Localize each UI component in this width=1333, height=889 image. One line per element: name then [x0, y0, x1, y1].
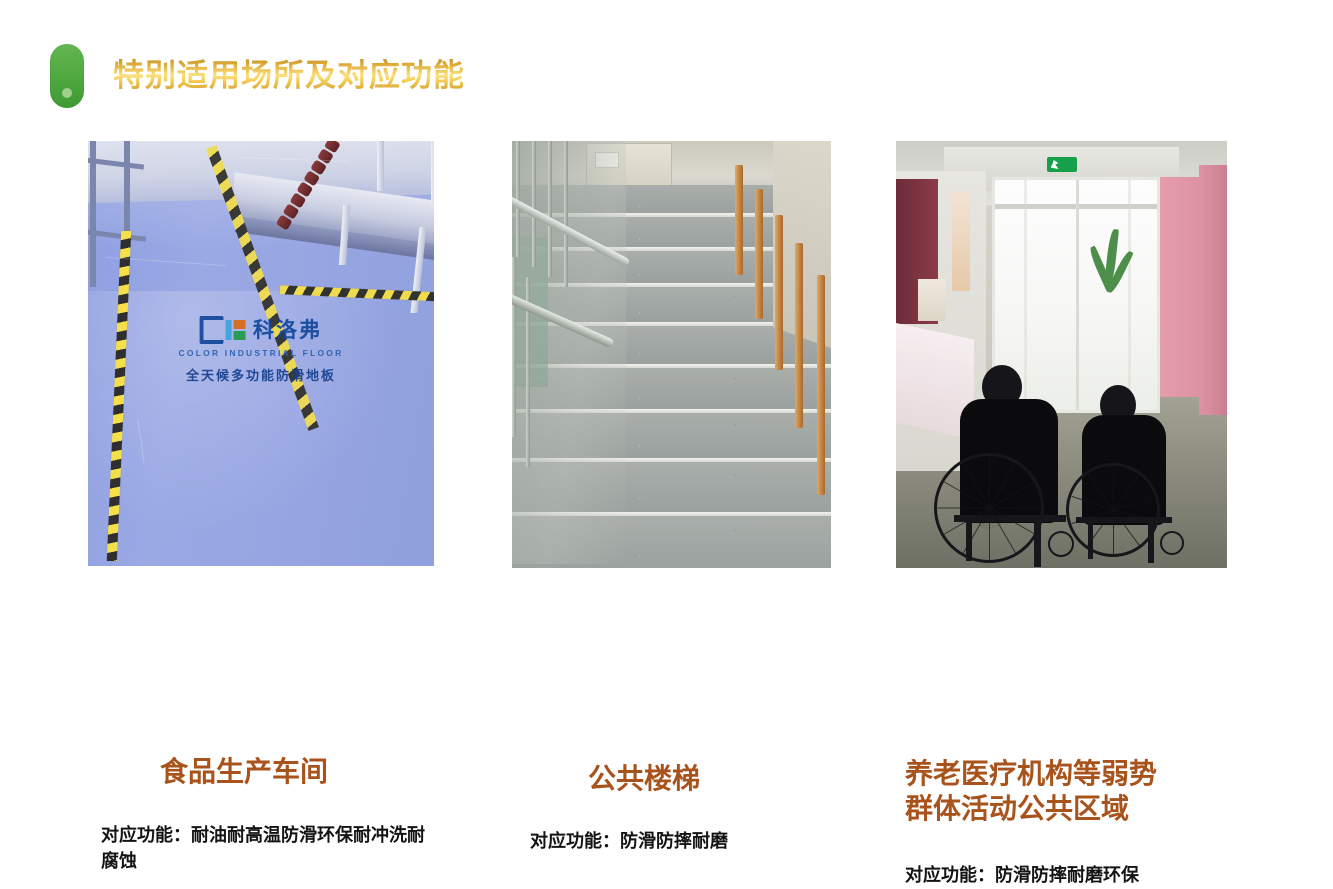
- potted-plant: [1097, 229, 1131, 321]
- brand-watermark: 科洛弗 COLOR INDUSTRIAL FLOOR 全天候多功能防滑地板: [179, 316, 344, 384]
- caption-body-elderly-medical-public-area: 对应功能：防滑防摔耐磨环保: [905, 863, 1235, 889]
- caption-heading-elderly-medical-public-area: 养老医疗机构等弱势 群体活动公共区域: [905, 756, 1235, 827]
- caption-body-public-stairway: 对应功能：防滑防摔耐磨: [530, 829, 830, 855]
- left-railing: [88, 141, 148, 287]
- green-pill-icon: [50, 44, 84, 108]
- page-title: 特别适用场所及对应功能: [113, 59, 465, 93]
- emergency-exit-sign-icon: [1047, 157, 1077, 172]
- pink-door-far: [1199, 165, 1227, 415]
- page-header: 特别适用场所及对应功能: [50, 44, 465, 108]
- slide-root: 特别适用场所及对应功能: [0, 0, 1333, 788]
- caption-heading-line-2: 群体活动公共区域: [905, 791, 1235, 826]
- lobby-chair: [918, 279, 946, 321]
- column-elderly-medical-public-area: 养老医疗机构等弱势 群体活动公共区域 对应功能：防滑防摔耐磨环保: [896, 141, 1227, 568]
- pill-dot-icon: [62, 88, 72, 98]
- wheelchair-person-right: [1064, 385, 1194, 565]
- steel-railing-left: [512, 141, 626, 564]
- caption-heading-food-production-workshop: 食品生产车间: [160, 754, 328, 789]
- wooden-railing-right: [723, 141, 831, 566]
- brand-logo-mark-icon: [200, 316, 246, 344]
- column-food-production-workshop: 科洛弗 COLOR INDUSTRIAL FLOOR 全天候多功能防滑地板 食品…: [88, 141, 434, 566]
- photo-elderly-medical-public-area: [896, 141, 1227, 568]
- wall-poster: [952, 191, 970, 291]
- brand-tagline: 全天候多功能防滑地板: [179, 365, 344, 384]
- caption-body-food-production-workshop: 对应功能：耐油耐高温防滑环保耐冲洗耐腐蚀: [101, 823, 431, 875]
- brand-name-en: COLOR INDUSTRIAL FLOOR: [179, 348, 344, 358]
- caption-heading-line-1: 养老医疗机构等弱势: [905, 756, 1235, 791]
- brand-name-cn: 科洛弗: [253, 320, 322, 341]
- column-public-stairway: 公共楼梯 对应功能：防滑防摔耐磨: [512, 141, 831, 568]
- photo-public-stairway: [512, 141, 831, 568]
- photo-food-production-workshop: 科洛弗 COLOR INDUSTRIAL FLOOR 全天候多功能防滑地板: [88, 141, 434, 566]
- caption-heading-public-stairway: 公共楼梯: [588, 761, 700, 796]
